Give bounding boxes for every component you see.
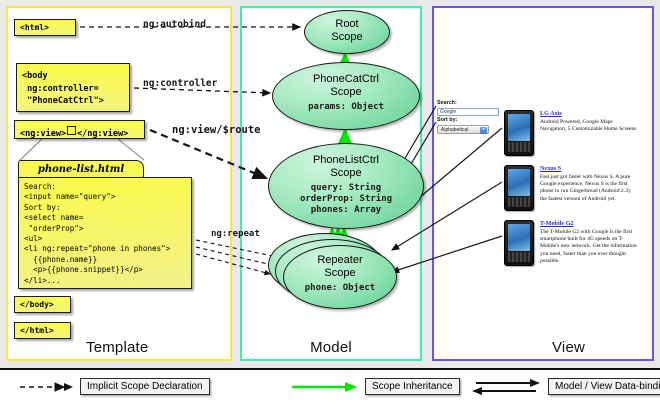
sort-select[interactable]: Alphabetical ▾ (437, 125, 489, 134)
label-ng-repeat: ng:repeat (211, 229, 260, 239)
tag-body-open: <body ng:controller= "PhoneCatCtrl"> (16, 63, 130, 112)
ngview-placeholder-box (67, 126, 76, 135)
scope-repeater: Repeater Scope phone: Object (283, 245, 397, 309)
search-input[interactable]: Google (437, 108, 499, 116)
phone-snippet: Android Powered, Google Maps Navigation,… (540, 119, 638, 133)
label-ng-view-route: ng:view/$route (172, 124, 261, 136)
file-card-title: phone-list.html (18, 160, 144, 178)
phone-name-link[interactable]: Nexus S (540, 165, 561, 172)
phone-image (504, 220, 534, 266)
chevron-updown-icon: ▾ (480, 127, 487, 134)
scope-repeater-props: phone: Object (284, 283, 396, 294)
tag-ngview: <ng:view></ng:view> (14, 120, 145, 139)
sort-label: Sort by: (437, 117, 507, 124)
diagram-stage: Template Model View (0, 0, 660, 405)
scope-phonelistctrl-title: PhoneListCtrl Scope (269, 144, 423, 180)
legend-item-implicit-scope: Implicit Scope Declaration (18, 378, 76, 396)
phone-screen (508, 114, 530, 141)
scope-phonecatctrl-props: params: Object (273, 102, 419, 113)
ngview-open-text: <ng:view> (20, 129, 66, 139)
file-card-code: Search: <input name="query"> Sort by: <s… (18, 177, 192, 289)
legend-label-scope-inheritance: Scope Inheritance (365, 378, 460, 395)
tag-html-close: </html> (14, 322, 71, 339)
ngview-close-text: </ng:view> (77, 129, 128, 139)
phone-screen (508, 224, 530, 251)
phone-snippet: The T-Mobile G2 with Google is the first… (540, 229, 638, 265)
tag-body-close: </body> (14, 296, 71, 313)
double-arrow-icon (470, 378, 542, 395)
file-card-phone-list: phone-list.html Search: <input name="que… (18, 160, 192, 290)
phone-name-link[interactable]: LG Axis (540, 110, 562, 117)
legend-label-implicit-scope: Implicit Scope Declaration (80, 378, 210, 395)
phone-keyboard (508, 197, 530, 207)
scope-phonecatctrl: PhoneCatCtrl Scope params: Object (272, 62, 420, 130)
phone-screen (508, 169, 530, 196)
label-ng-controller: ng:controller (143, 78, 217, 89)
dashed-arrow-icon (18, 378, 76, 395)
panel-model-label: Model (242, 339, 420, 356)
label-ng-autobind: ng:autobind (143, 19, 206, 30)
legend: Implicit Scope Declaration Scope Inherit… (0, 368, 660, 407)
view-search-block: Search: Google Sort by: Alphabetical ▾ (437, 100, 507, 134)
legend-label-data-binding: Model / View Data-binding (548, 378, 660, 395)
panel-view-label: View (434, 339, 660, 356)
search-label: Search: (437, 100, 507, 107)
scope-phonelistctrl-props: query: String orderProp: String phones: … (269, 183, 423, 216)
tag-html-open: <html> (14, 19, 76, 36)
legend-item-data-binding: Model / View Data-binding (470, 378, 542, 396)
phone-name-link[interactable]: T-Mobile G2 (540, 220, 574, 227)
scope-repeater-title: Repeater Scope (284, 246, 396, 280)
phone-keyboard (508, 142, 530, 152)
phone-image (504, 110, 534, 156)
phone-snippet: Fast just got faster with Nexus S. A pur… (540, 174, 638, 203)
phone-image (504, 165, 534, 211)
green-arrow-icon (290, 378, 360, 395)
scope-root-title: Root Scope (305, 11, 389, 44)
scope-phonelistctrl: PhoneListCtrl Scope query: String orderP… (268, 143, 424, 229)
scope-phonecatctrl-title: PhoneCatCtrl Scope (273, 63, 419, 99)
sort-select-value: Alphabetical (441, 127, 468, 133)
scope-root: Root Scope (304, 10, 390, 54)
legend-item-scope-inheritance: Scope Inheritance (290, 378, 360, 396)
phone-keyboard (508, 252, 530, 262)
